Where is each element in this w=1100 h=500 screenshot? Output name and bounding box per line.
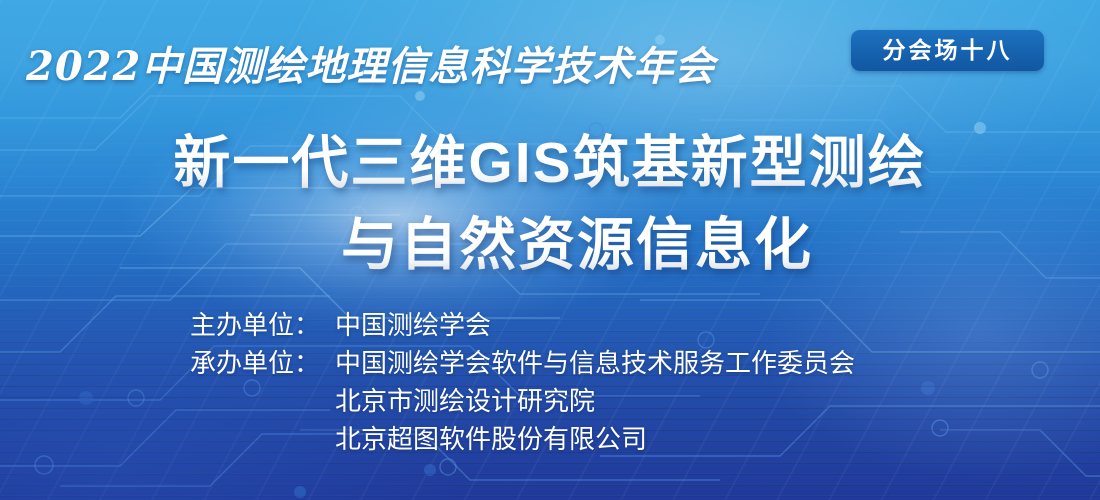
organizer-list: 主办单位： 中国测绘学会 承办单位： 中国测绘学会软件与信息技术服务工作委员会 …: [190, 306, 855, 458]
main-title-line-2: 与自然资源信息化: [0, 204, 1100, 286]
organizer-row: 承办单位： 中国测绘学会软件与信息技术服务工作委员会: [190, 344, 855, 382]
venue-badge: 分会场十八: [851, 30, 1044, 71]
organizer-value: 北京超图软件股份有限公司: [335, 420, 855, 458]
organizer-value: 中国测绘学会软件与信息技术服务工作委员会: [335, 344, 855, 382]
organizer-row: 主办单位： 中国测绘学会: [190, 306, 855, 344]
organizer-value: 北京市测绘设计研究院: [335, 382, 855, 420]
conference-script-title: 2022中国测绘地理信息科学技术年会: [26, 34, 715, 92]
main-title-line-1: 新一代三维GIS筑基新型测绘: [0, 122, 1100, 204]
organizer-label: 承办单位：: [190, 344, 335, 382]
venue-badge-label: 分会场十八: [883, 39, 1013, 62]
organizer-value: 中国测绘学会: [335, 306, 855, 344]
organizer-row: 承办单位： 北京市测绘设计研究院: [190, 382, 855, 420]
organizer-row: 承办单位： 北京超图软件股份有限公司: [190, 420, 855, 458]
organizer-label: 主办单位：: [190, 306, 335, 344]
main-title: 新一代三维GIS筑基新型测绘 与自然资源信息化: [0, 122, 1100, 286]
conference-banner: 2022中国测绘地理信息科学技术年会 分会场十八 新一代三维GIS筑基新型测绘 …: [0, 0, 1100, 500]
